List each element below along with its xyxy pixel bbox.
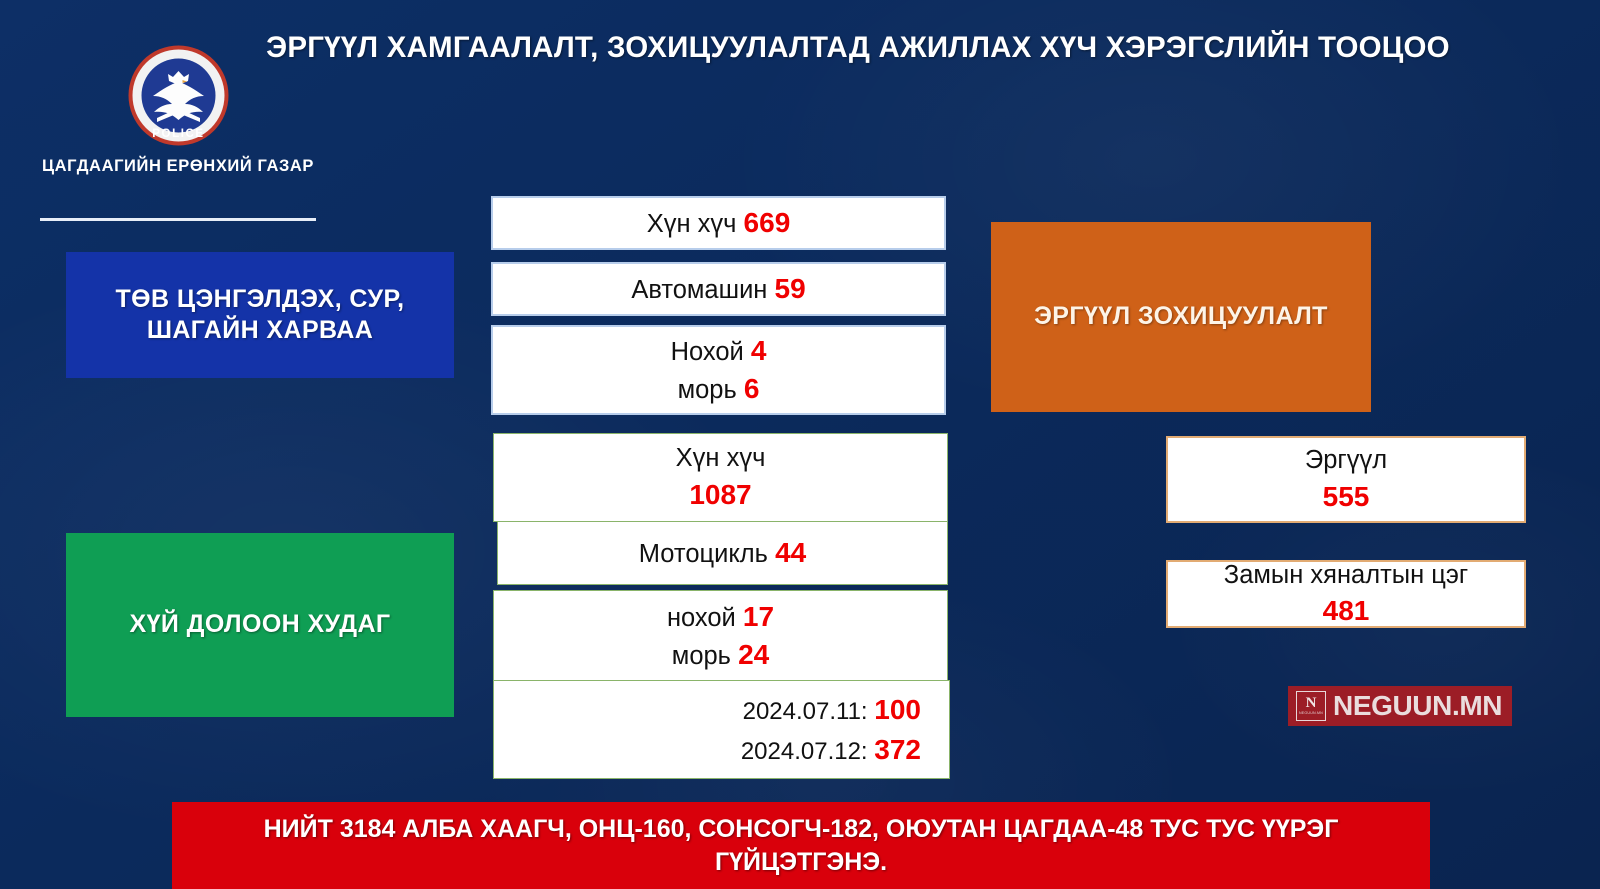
- card-checkpoint-count: Замын хяналтын цэг 481: [1166, 560, 1526, 628]
- neguun-watermark-text: NEGUUN.MN: [1333, 690, 1502, 722]
- vehicle-value: 59: [775, 273, 806, 304]
- checkpoint-label: Замын хяналтын цэг: [1224, 558, 1468, 592]
- card-animals-central: Нохой 4 морь 6: [491, 325, 946, 415]
- card-manpower-central: Хүн хүч 669: [491, 196, 946, 250]
- card-animals-khui: нохой 17 морь 24: [493, 590, 948, 681]
- manpower-value: 1087: [676, 476, 766, 514]
- patrol-value: 555: [1305, 478, 1387, 516]
- vehicle-label: Автомашин: [631, 276, 767, 304]
- header-divider: [40, 218, 316, 221]
- card-vehicles-central: Автомашин 59: [491, 262, 946, 316]
- horse-value: 24: [738, 639, 769, 670]
- dog-label: нохой: [667, 604, 736, 632]
- horse-label: морь: [678, 376, 737, 404]
- patrol-label: Эргүүл: [1305, 443, 1387, 477]
- horse-value: 6: [744, 373, 760, 404]
- card-patrol-count: Эргүүл 555: [1166, 436, 1526, 523]
- police-eagle-badge-icon: POLICE: [127, 44, 230, 147]
- date2-value: 372: [874, 734, 921, 765]
- neguun-watermark: N NEGUUN.MN NEGUUN.MN: [1288, 686, 1512, 726]
- motorcycle-label: Мотоцикль: [639, 540, 768, 568]
- summary-banner: НИЙТ 3184 АЛБА ХААГЧ, ОНЦ-160, СОНСОГЧ-1…: [172, 802, 1430, 889]
- horse-label: морь: [672, 642, 731, 670]
- card-manpower-khui: Хүн хүч 1087: [493, 433, 948, 522]
- checkpoint-value: 481: [1224, 592, 1468, 630]
- manpower-label: Хүн хүч: [676, 441, 766, 475]
- date1-value: 100: [874, 694, 921, 725]
- dog-value: 4: [751, 335, 767, 366]
- section-label-patrol-regulation: ЭРГҮҮЛ ЗОХИЦУУЛАЛТ: [991, 222, 1371, 412]
- venue-label-central-stadium: ТӨВ ЦЭНГЭЛДЭХ, СУР, ШАГАЙН ХАРВАА: [66, 252, 454, 378]
- dog-value: 17: [743, 601, 774, 632]
- neguun-logo-mark: N: [1306, 697, 1317, 711]
- page-title: ЭРГҮҮЛ ХАМГААЛАЛТ, ЗОХИЦУУЛАЛТАД АЖИЛЛАХ…: [264, 28, 1452, 67]
- dog-label: Нохой: [671, 338, 744, 366]
- venue-label-khui-doloon-khudag: ХҮЙ ДОЛООН ХУДАГ: [66, 533, 454, 717]
- slide-root: POLICE ЦАГДААГИЙН ЕРӨНХИЙ ГАЗАР ЭРГҮҮЛ Х…: [0, 0, 1600, 889]
- card-daily-breakdown: 2024.07.11: 100 2024.07.12: 372: [493, 680, 950, 779]
- card-motorcycles-khui: Мотоцикль 44: [497, 521, 948, 585]
- neguun-logo-icon: N NEGUUN.MN: [1296, 691, 1326, 721]
- neguun-logo-subtext: NEGUUN.MN: [1299, 711, 1323, 715]
- organization-name: ЦАГДААГИЙН ЕРӨНХИЙ ГАЗАР: [40, 156, 316, 176]
- manpower-value: 669: [744, 207, 791, 238]
- manpower-label: Хүн хүч: [647, 210, 737, 238]
- date1-label: 2024.07.11:: [743, 698, 868, 725]
- motorcycle-value: 44: [775, 537, 806, 568]
- date2-label: 2024.07.12:: [741, 738, 868, 765]
- svg-text:POLICE: POLICE: [152, 128, 204, 140]
